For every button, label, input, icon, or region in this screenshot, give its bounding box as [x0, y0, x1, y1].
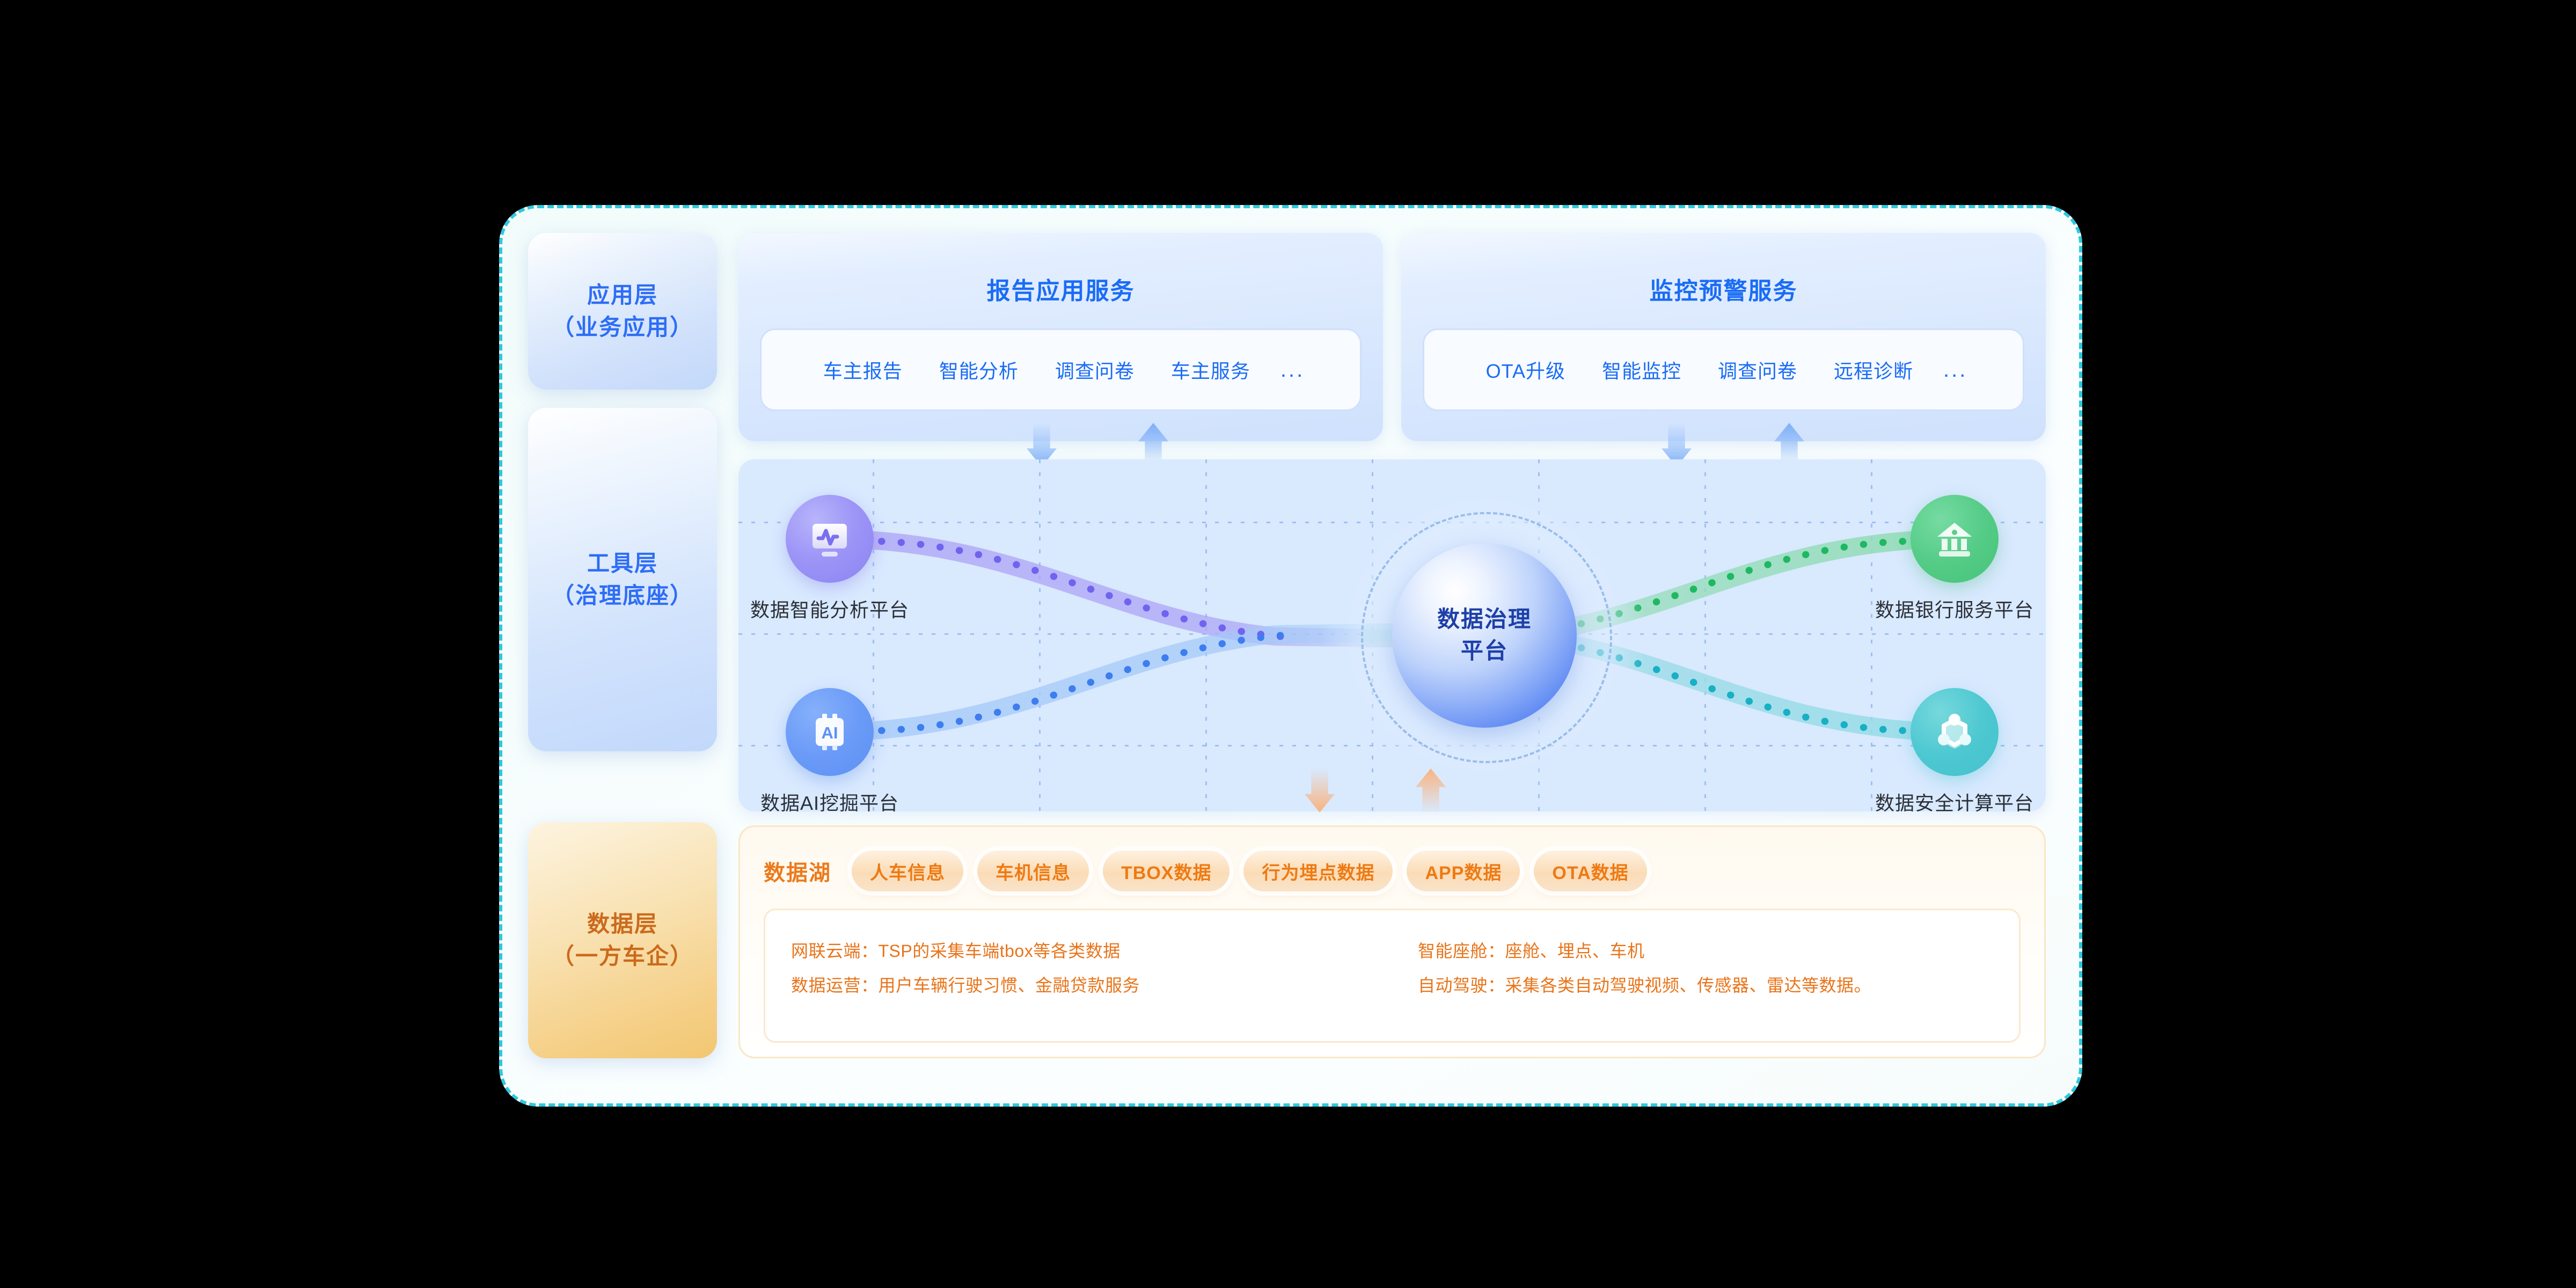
- service-card-report[interactable]: 报告应用服务 车主报告 智能分析 调查问卷 车主服务 ...: [738, 233, 1383, 441]
- layer-chip-tool[interactable]: 工具层 （治理底座）: [528, 408, 717, 751]
- data-source-description-box: 网联云端：TSP的采集车端tbox等各类数据 数据运营：用户车辆行驶习惯、金融贷…: [764, 909, 2021, 1043]
- data-lake-row: 数据湖 人车信息 车机信息 TBOX数据 行为埋点数据 APP数据 OTA数据: [764, 846, 2021, 896]
- layer-chip-application-line1: 应用层: [587, 279, 658, 311]
- flow-arrow-down-data: [1305, 769, 1335, 813]
- data-lake-tag[interactable]: OTA数据: [1534, 851, 1646, 891]
- platform-node-analysis-label: 数据智能分析平台: [738, 595, 991, 623]
- platform-node-data-bank-label: 数据银行服务平台: [1794, 595, 2046, 623]
- svg-text:AI: AI: [822, 723, 838, 742]
- architecture-container: 应用层 （业务应用） 工具层 （治理底座） 数据层 （一方车企） 报告应用服务 …: [499, 205, 2082, 1107]
- layer-chip-application[interactable]: 应用层 （业务应用）: [528, 233, 717, 390]
- core-platform-line2: 平台: [1461, 638, 1508, 663]
- core-platform-node[interactable]: 数据治理 平台: [1392, 543, 1577, 728]
- ai-chip-icon: AI: [786, 688, 874, 776]
- data-layer-panel: 数据湖 人车信息 车机信息 TBOX数据 行为埋点数据 APP数据 OTA数据 …: [738, 825, 2046, 1058]
- service-item[interactable]: OTA升级: [1468, 356, 1584, 384]
- layer-chip-data-line1: 数据层: [587, 908, 658, 940]
- service-item[interactable]: 调查问卷: [1037, 356, 1153, 384]
- diagram-canvas: 应用层 （业务应用） 工具层 （治理底座） 数据层 （一方车企） 报告应用服务 …: [0, 0, 2576, 1288]
- description-line: 网联云端：TSP的采集车端tbox等各类数据: [791, 934, 1392, 968]
- service-card-monitor[interactable]: 监控预警服务 OTA升级 智能监控 调查问卷 远程诊断 ...: [1401, 233, 2046, 441]
- description-line: 智能座舱：座舱、埋点、车机: [1418, 934, 2019, 968]
- service-item[interactable]: 车主报告: [805, 356, 921, 384]
- data-lake-tag[interactable]: TBOX数据: [1103, 851, 1230, 891]
- description-column-right: 智能座舱：座舱、埋点、车机 自动驾驶：采集各类自动驾驶视频、传感器、雷达等数据。: [1392, 910, 2019, 1041]
- bank-building-icon: [1911, 495, 1999, 583]
- service-item[interactable]: 智能监控: [1584, 356, 1700, 384]
- shield-network-icon: [1911, 688, 1999, 776]
- application-layer-row: 报告应用服务 车主报告 智能分析 调查问卷 车主服务 ... 监控预警服务 OT…: [738, 233, 2046, 441]
- service-card-monitor-title: 监控预警服务: [1650, 272, 1798, 306]
- service-card-report-title: 报告应用服务: [987, 272, 1135, 306]
- description-line: 数据运营：用户车辆行驶习惯、金融贷款服务: [791, 968, 1392, 1002]
- data-lake-tag[interactable]: 车机信息: [977, 851, 1089, 891]
- service-item[interactable]: 远程诊断: [1816, 356, 1931, 384]
- service-card-report-items: 车主报告 智能分析 调查问卷 车主服务 ...: [760, 328, 1362, 411]
- flow-arrow-up-data: [1416, 769, 1446, 813]
- service-item[interactable]: 智能分析: [921, 356, 1037, 384]
- layer-chip-application-line2: （业务应用）: [552, 311, 693, 343]
- platform-node-secure-computing-label: 数据安全计算平台: [1794, 788, 2046, 811]
- data-lake-tag[interactable]: APP数据: [1407, 851, 1520, 891]
- data-lake-tag[interactable]: 行为埋点数据: [1243, 851, 1393, 891]
- description-column-left: 网联云端：TSP的采集车端tbox等各类数据 数据运营：用户车辆行驶习惯、金融贷…: [765, 910, 1392, 1041]
- service-item[interactable]: 调查问卷: [1700, 356, 1816, 384]
- platform-node-ai-mining-label: 数据AI挖掘平台: [738, 788, 991, 811]
- tool-layer-panel: 数据治理 平台 数据智能分析平台: [738, 459, 2046, 811]
- data-lake-tag[interactable]: 人车信息: [852, 851, 963, 891]
- data-lake-title: 数据湖: [764, 855, 831, 887]
- service-item-more[interactable]: ...: [1269, 358, 1316, 382]
- description-line: 自动驾驶：采集各类自动驾驶视频、传感器、雷达等数据。: [1418, 968, 2019, 1002]
- layer-chip-data[interactable]: 数据层 （一方车企）: [528, 822, 717, 1058]
- layer-chip-data-line2: （一方车企）: [552, 940, 693, 972]
- monitor-waveform-icon: [786, 495, 874, 583]
- service-card-monitor-items: OTA升级 智能监控 调查问卷 远程诊断 ...: [1423, 328, 2024, 411]
- layer-chip-tool-line2: （治理底座）: [552, 580, 693, 612]
- core-platform-line1: 数据治理: [1437, 606, 1532, 632]
- layer-chip-tool-line1: 工具层: [587, 547, 658, 580]
- service-item-more[interactable]: ...: [1931, 358, 1979, 382]
- service-item[interactable]: 车主服务: [1153, 356, 1269, 384]
